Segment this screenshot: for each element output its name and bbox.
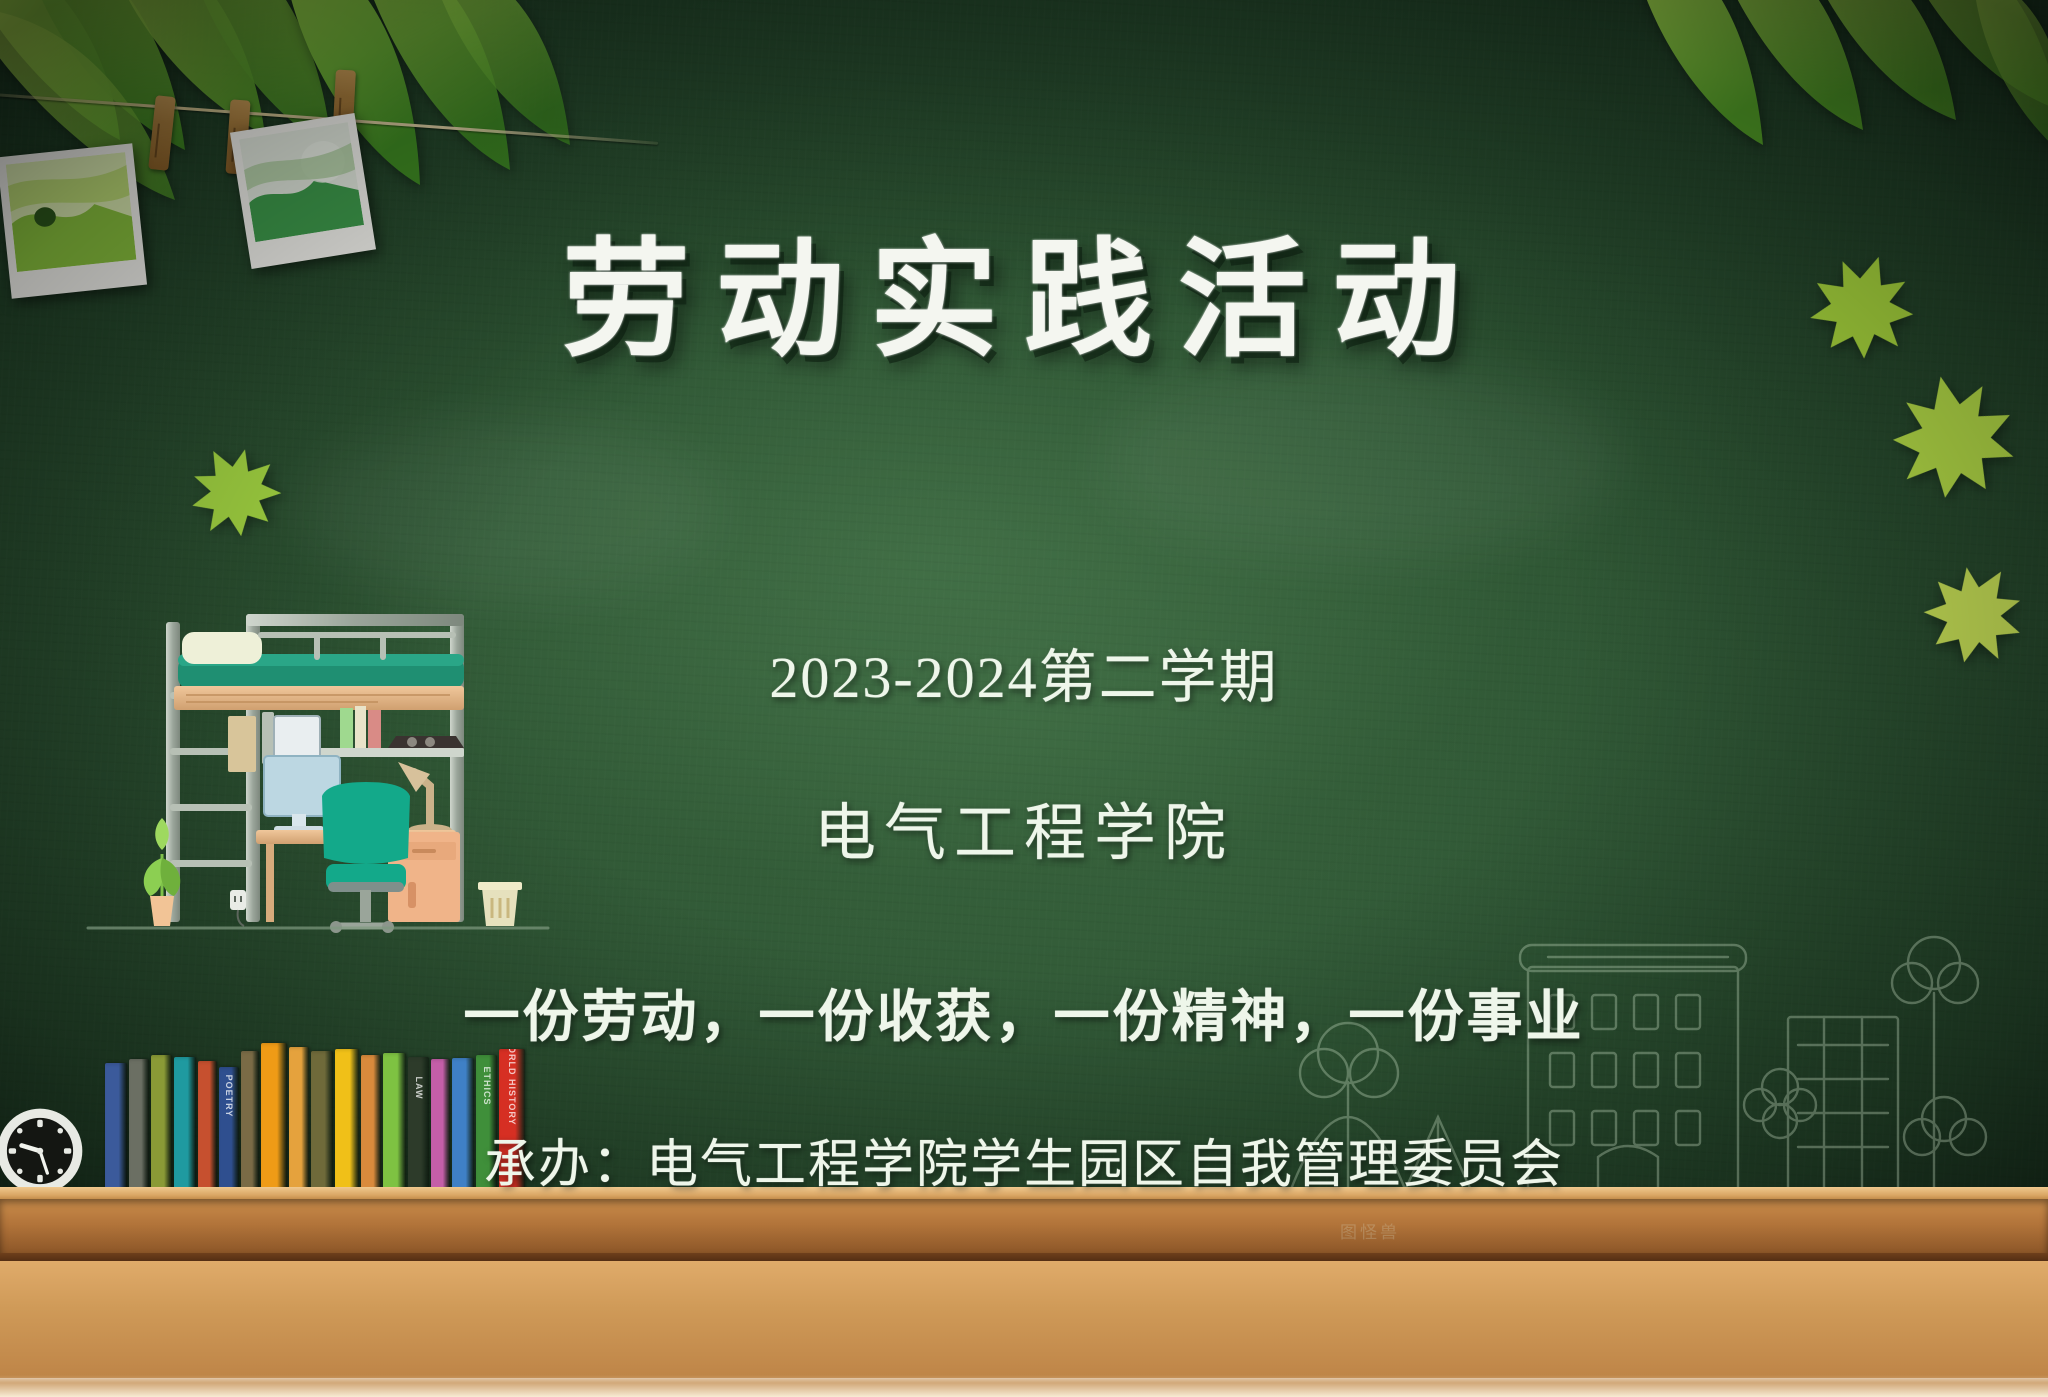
book-spine-text: LAW	[414, 1076, 424, 1099]
book-spine-text: WORLD HISTORY	[507, 1049, 517, 1126]
host-line: 承办：电气工程学院学生园区自我管理委员会	[0, 1122, 2048, 1197]
ledge-face	[0, 1199, 2048, 1255]
watermark: 图怪兽	[1340, 1218, 1400, 1243]
college-line: 电气工程学院	[0, 782, 2048, 872]
term-line: 2023-2024第二学期	[0, 630, 2048, 714]
ledge-glow	[0, 1375, 2048, 1397]
chalkboard-ledge	[0, 1187, 2048, 1397]
poster-canvas: POETRYLAWETHICSWORLD HISTORY 劳动实践活动 2023…	[0, 0, 2048, 1397]
book-spine-text: ETHICS	[482, 1067, 492, 1106]
page-title: 劳动实践活动	[0, 196, 2048, 381]
book-spine-text: POETRY	[224, 1075, 234, 1118]
slogan-line: 一份劳动，一份收获，一份精神，一份事业	[0, 972, 2048, 1053]
